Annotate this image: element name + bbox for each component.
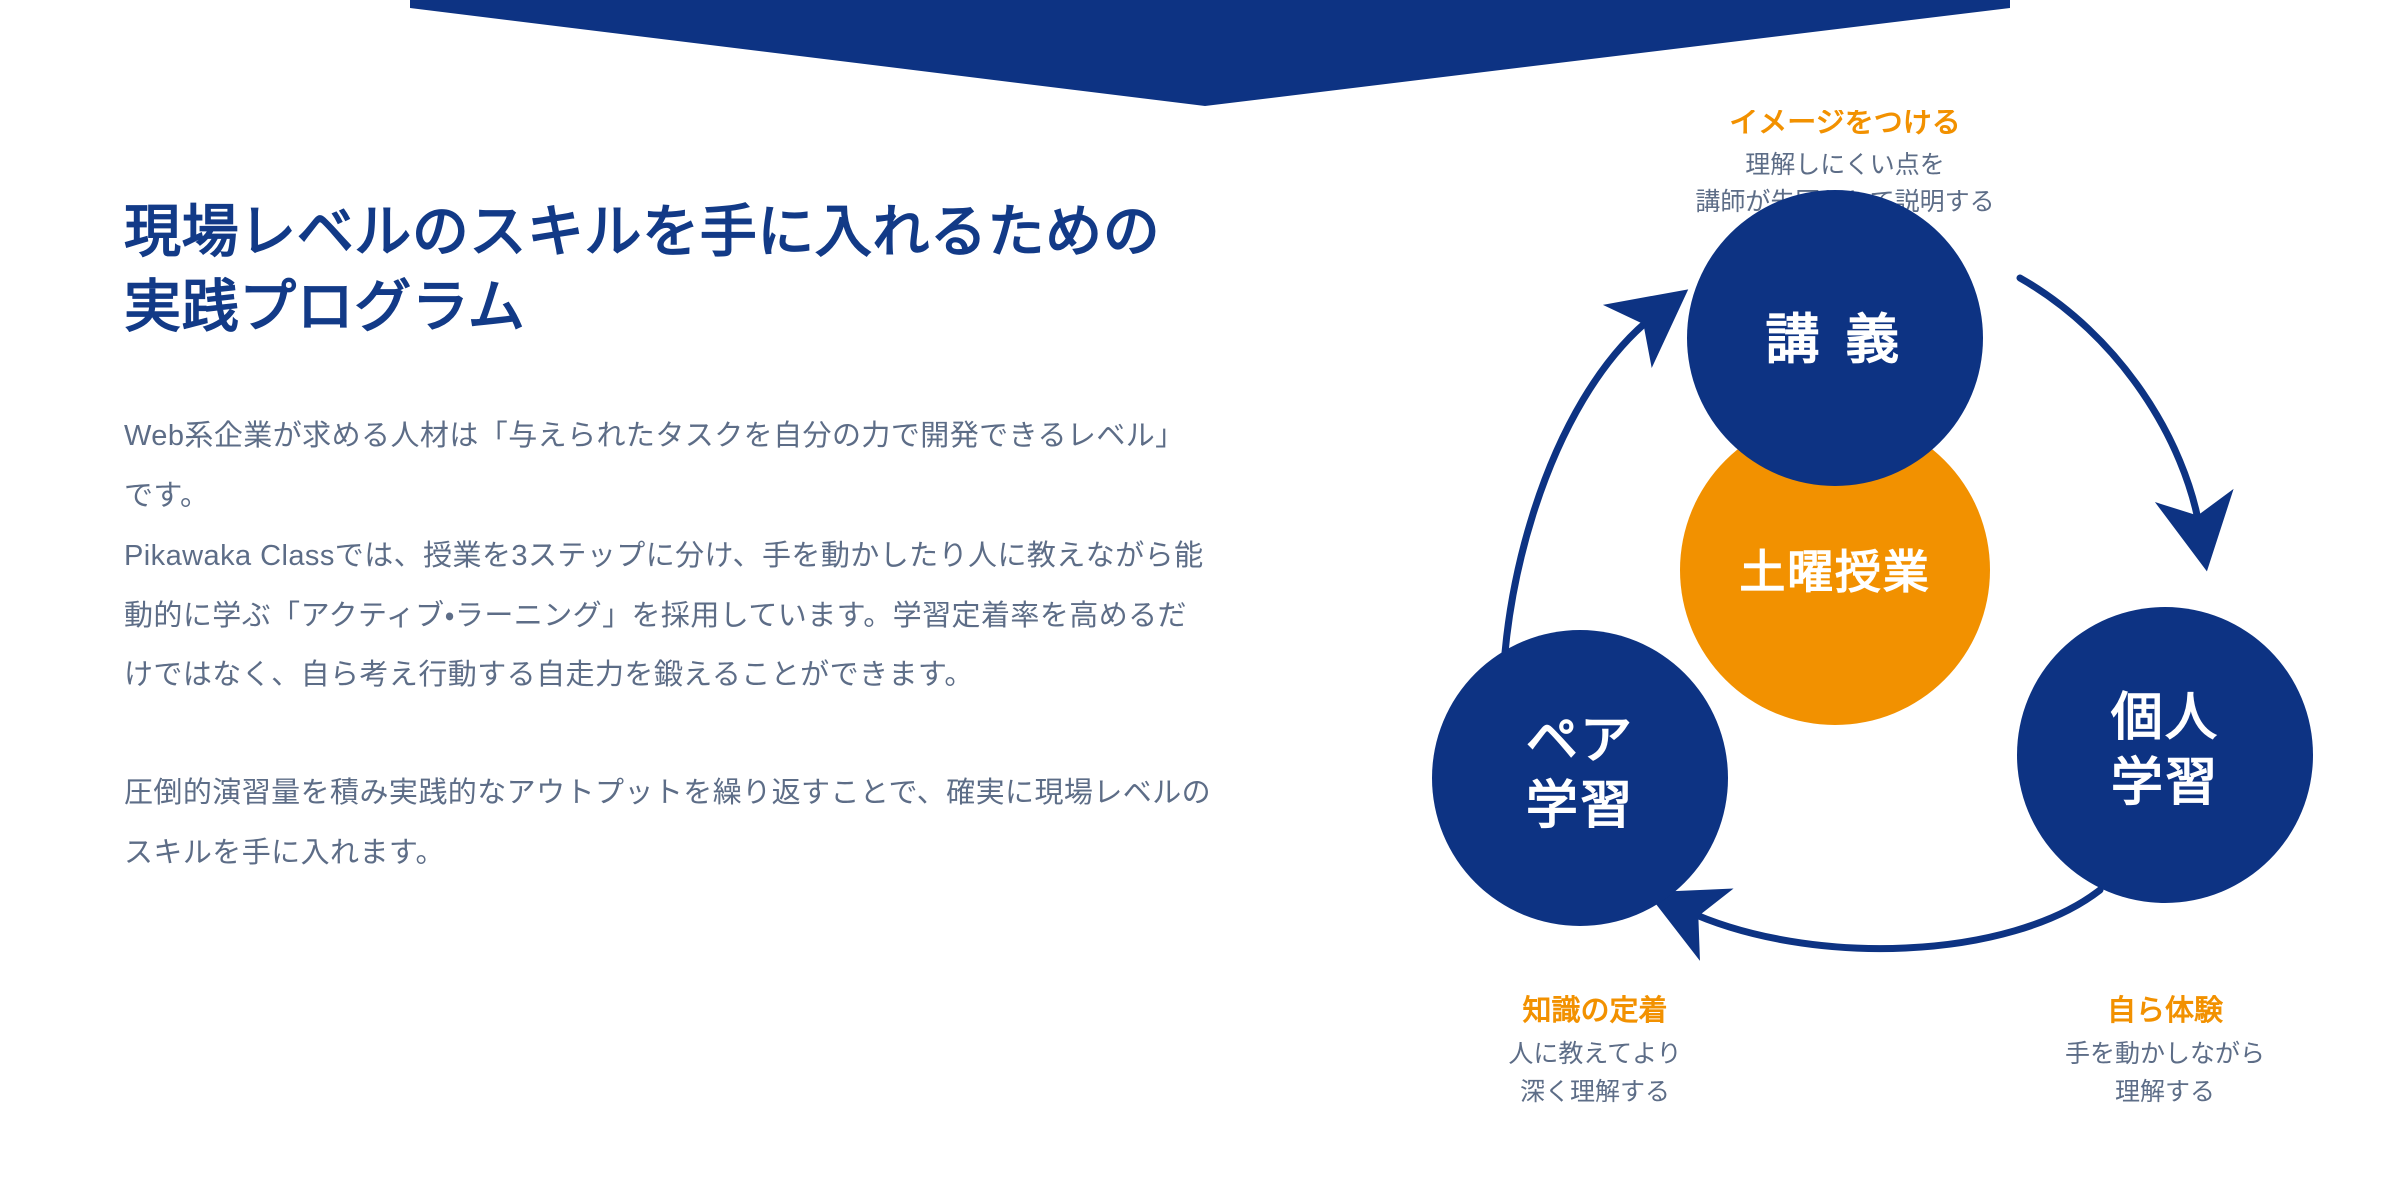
caption-pair-study-sub-2: 深く理解する bbox=[1520, 1078, 1670, 1106]
caption-individual-study: 自ら体験 手を動かしながら 理解する bbox=[2065, 994, 2265, 1106]
node-individual-study-label-2: 学習 bbox=[2111, 754, 2219, 812]
caption-lecture-title: イメージをつける bbox=[1729, 110, 1960, 139]
node-lecture-label: 講 義 bbox=[1765, 310, 1904, 370]
arrow-lecture-to-individual bbox=[2020, 278, 2200, 530]
body-line-1: Web系企業が求める人材は「与えられたタスクを自分の力で開発できるレベル」 bbox=[124, 407, 1384, 467]
caption-individual-study-title: 自ら体験 bbox=[2107, 994, 2224, 1027]
chevron-down-shape bbox=[410, 0, 2010, 106]
caption-pair-study-title: 知識の定着 bbox=[1522, 993, 1667, 1027]
caption-individual-study-sub-1: 手を動かしながら bbox=[2065, 1040, 2265, 1068]
intro-body: Web系企業が求める人材は「与えられたタスクを自分の力で開発できるレベル」 です… bbox=[124, 407, 1384, 883]
paragraph-spacer bbox=[124, 706, 1384, 764]
body-line-7: スキルを手に入れます。 bbox=[124, 824, 1384, 884]
node-lecture[interactable]: 講 義 bbox=[1687, 190, 1983, 486]
body-line-5: けではなく、自ら考え行動する自走力を鍛えることができます。 bbox=[124, 646, 1384, 706]
arrow-individual-to-pair bbox=[1685, 890, 2100, 949]
caption-lecture-sub-1: 理解しにくい点を bbox=[1745, 151, 1945, 179]
node-individual-study-label-1: 個人 bbox=[2110, 689, 2219, 747]
learning-cycle-diagram: イメージをつける 理解しにくい点を 講師が先回りして説明する 土曜授業 講 義 … bbox=[1380, 110, 2380, 1200]
top-chevron-banner bbox=[0, 0, 2400, 115]
node-pair-study-label-1: ペア bbox=[1526, 712, 1634, 770]
caption-individual-study-sub-2: 理解する bbox=[2115, 1078, 2215, 1106]
body-line-6: 圧倒的演習量を積み実践的なアウトプットを繰り返すことで、確実に現場レベルの bbox=[124, 764, 1384, 824]
page-title-line-2: 実践プログラム bbox=[124, 270, 1384, 345]
page-title-line-1: 現場レベルのスキルを手に入れるための bbox=[124, 195, 1384, 270]
body-line-4: 動的に学ぶ「アクティブ・ラーニング」を採用しています。学習定着率を高めるだ bbox=[124, 587, 1384, 647]
caption-pair-study: 知識の定着 人に教えてより 深く理解する bbox=[1508, 993, 1681, 1106]
body-line-2: です。 bbox=[124, 467, 1384, 527]
body-line-3: Pikawaka Classでは、授業を3ステップに分け、手を動かしたり人に教え… bbox=[124, 527, 1384, 587]
intro-text-column: 現場レベルのスキルを手に入れるための 実践プログラム Web系企業が求める人材は… bbox=[124, 195, 1384, 884]
node-pair-study[interactable]: ペア 学習 bbox=[1432, 630, 1728, 926]
caption-pair-study-sub-1: 人に教えてより bbox=[1508, 1040, 1681, 1068]
page-title: 現場レベルのスキルを手に入れるための 実践プログラム bbox=[124, 195, 1384, 345]
node-pair-study-label-2: 学習 bbox=[1526, 777, 1634, 835]
node-saturday-class-label: 土曜授業 bbox=[1739, 546, 1930, 598]
node-individual-study[interactable]: 個人 学習 bbox=[2017, 607, 2313, 903]
